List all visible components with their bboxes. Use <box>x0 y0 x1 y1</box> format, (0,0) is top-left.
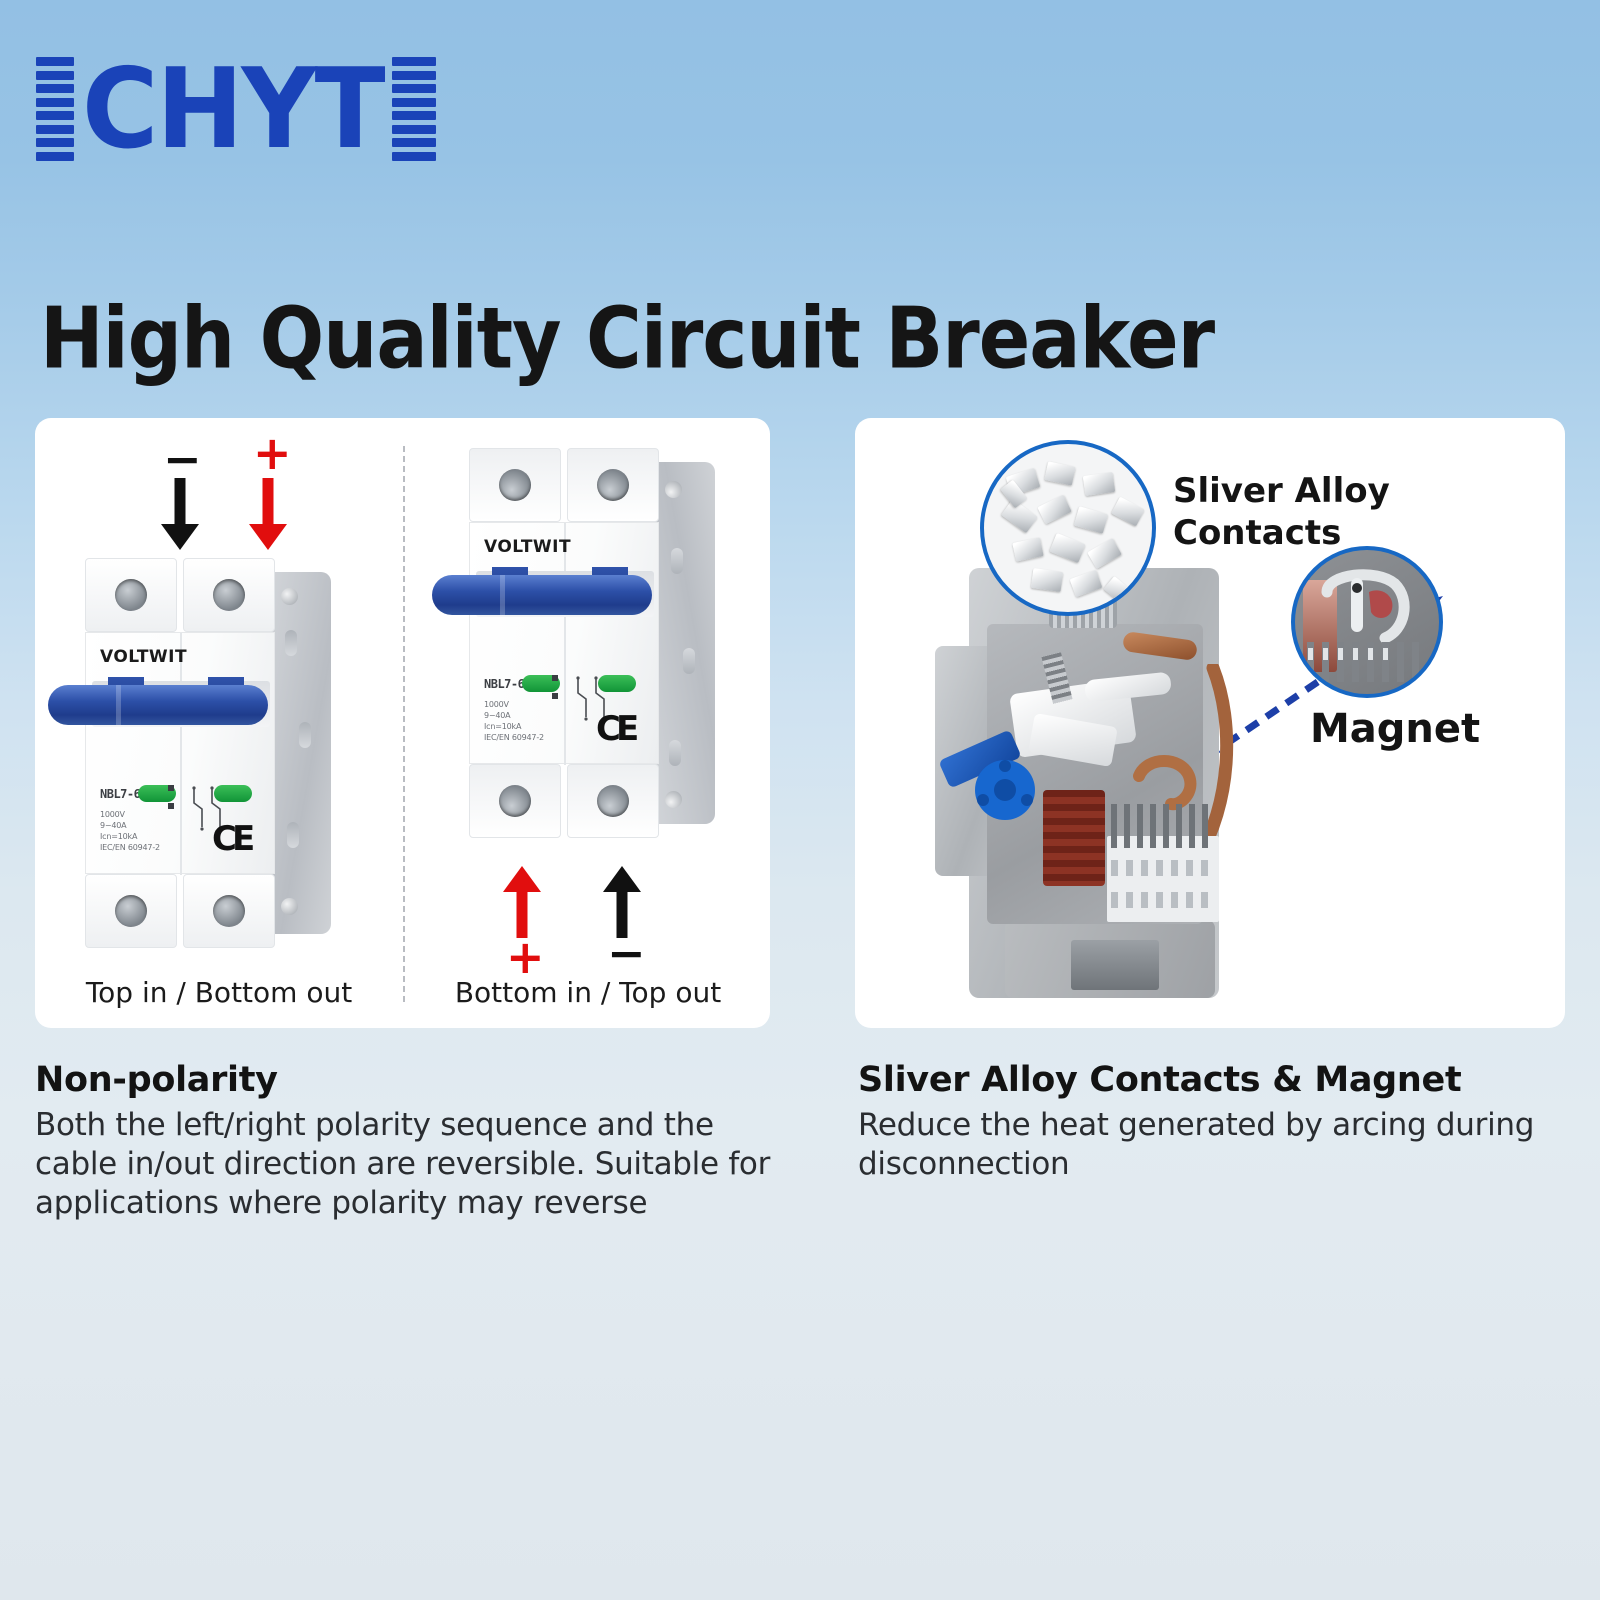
panel-caption-bottom-in-top-out: Bottom in / Top out <box>407 976 769 1009</box>
device-brand-label: VOLTWIT <box>100 647 187 667</box>
terminal-bottom-right <box>567 448 659 522</box>
device-spec-text: 1000V 9−40A Icn=10kA IEC/EN 60947-2 <box>100 809 160 853</box>
logo-wordmark: CHYT <box>82 54 384 164</box>
breaker-side-housing <box>653 462 715 824</box>
feature-non-polarity: Non-polarity Both the left/right polarit… <box>35 1060 795 1223</box>
feature-body: Both the left/right polarity sequence an… <box>35 1106 795 1223</box>
magnet-circle <box>1291 546 1443 698</box>
device-brand-label: VOLTWIT <box>484 537 571 557</box>
bottom-terminal <box>1071 940 1159 990</box>
terminal-top-left <box>469 764 561 838</box>
contact-dots <box>552 675 559 711</box>
contact-dots <box>168 785 175 821</box>
ce-mark: CE <box>212 819 250 859</box>
breaker-device-inverted: VOLTWIT NBL7-63 1000V 9−40A Icn=10kA IEC… <box>457 448 707 838</box>
non-polarity-card: − + VOLTWIT <box>35 418 770 1028</box>
magnet-label: Magnet <box>1310 706 1480 752</box>
breaker-face: VOLTWIT NBL7-63 1000V 9−40A Icn=10kA IEC… <box>469 522 659 764</box>
breaker-device-upright: VOLTWIT NBL7-63 1000V 9−40A Icn=10kA IEC… <box>73 558 323 948</box>
terminal-top-right <box>567 764 659 838</box>
terminal-top-left <box>85 558 177 632</box>
breaker-toggle-lever[interactable] <box>48 685 268 725</box>
sliver-alloy-magnet-card: Sliver Alloy Contacts Magnet <box>855 418 1565 1028</box>
breaker-side-housing <box>269 572 331 934</box>
marker-plus-sign: + <box>253 426 292 480</box>
arc-chute-fins-icon <box>1107 804 1223 924</box>
feature-body: Reduce the heat generated by arcing duri… <box>858 1106 1558 1184</box>
brand-logo: CHYT <box>36 50 436 168</box>
terminal-bottom-left <box>85 874 177 948</box>
marker-minus-arrow-down <box>161 478 199 550</box>
terminal-bottom-right <box>183 874 275 948</box>
marker-minus-sign-2: − <box>607 926 646 980</box>
panel-divider <box>403 446 405 1002</box>
breaker-toggle-lever[interactable] <box>432 575 652 615</box>
terminal-bottom-left <box>469 448 561 522</box>
breaker-face: VOLTWIT NBL7-63 1000V 9−40A Icn=10kA IEC… <box>85 632 275 874</box>
feature-title: Sliver Alloy Contacts & Magnet <box>858 1060 1558 1100</box>
breaker-front-body: VOLTWIT NBL7-63 1000V 9−40A Icn=10kA IEC… <box>469 448 659 838</box>
feature-title: Non-polarity <box>35 1060 795 1100</box>
device-spec-text: 1000V 9−40A Icn=10kA IEC/EN 60947-2 <box>484 699 544 743</box>
sliver-alloy-contacts-circle <box>980 440 1156 616</box>
logo-bars-right <box>392 57 436 161</box>
marker-plus-arrow-down <box>249 478 287 550</box>
logo-bars-left <box>36 57 74 161</box>
feature-sliver-alloy-magnet: Sliver Alloy Contacts & Magnet Reduce th… <box>858 1060 1558 1184</box>
magnet-coil <box>1043 790 1105 886</box>
terminal-top-right <box>183 558 275 632</box>
panel-caption-top-in-bottom-out: Top in / Bottom out <box>35 976 403 1009</box>
ce-mark: CE <box>596 709 634 749</box>
breaker-front-body: VOLTWIT NBL7-63 1000V 9−40A Icn=10kA IEC… <box>85 558 275 948</box>
lever-rotor-icon <box>969 754 1041 826</box>
marker-plus-arrow-up <box>503 866 541 938</box>
sliver-alloy-contacts-label: Sliver Alloy Contacts <box>1173 470 1390 554</box>
breaker-cutaway-photo <box>935 568 1295 998</box>
page-title: High Quality Circuit Breaker <box>40 288 1214 388</box>
